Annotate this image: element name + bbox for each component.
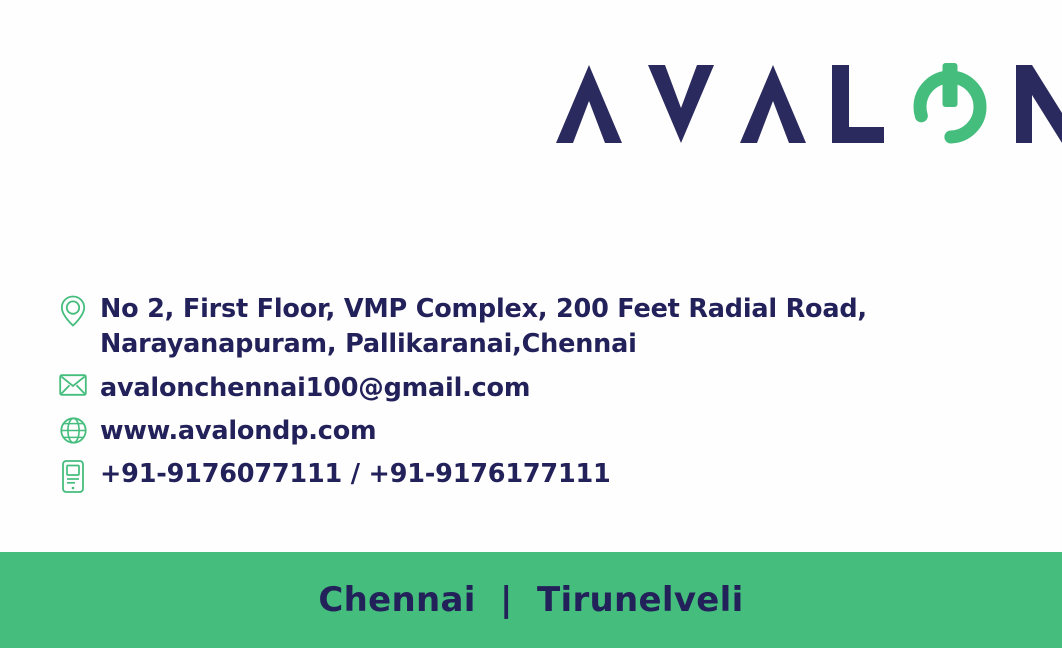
phone-text: +91-9176077111 / +91-9176177111: [90, 457, 611, 492]
contact-row-phone[interactable]: +91-9176077111 / +91-9176177111: [56, 457, 996, 492]
logo-letter-n: [1016, 65, 1062, 143]
contact-row-website[interactable]: www.avalondp.com: [56, 414, 996, 449]
contact-row-email[interactable]: avalonchennai100@gmail.com: [56, 371, 996, 406]
footer-locations-bar: Chennai | Tirunelveli: [0, 552, 1062, 648]
envelope-icon: [56, 371, 90, 405]
globe-icon: [56, 414, 90, 448]
company-logo: [556, 52, 996, 156]
logo-letter-l: [832, 65, 884, 143]
logo-lettermark: [556, 61, 1062, 147]
location-pin-icon: [56, 292, 90, 326]
mobile-phone-icon: [56, 457, 90, 491]
address-text: No 2, First Floor, VMP Complex, 200 Feet…: [90, 292, 867, 361]
footer-locations-text: Chennai | Tirunelveli: [318, 580, 743, 620]
logo-letter-v: [648, 65, 714, 143]
power-button-icon: [910, 61, 990, 147]
logo-letter-a-2: [740, 65, 806, 143]
contact-row-address: No 2, First Floor, VMP Complex, 200 Feet…: [56, 292, 996, 361]
website-text: www.avalondp.com: [90, 414, 376, 449]
logo-letter-a-1: [556, 65, 622, 143]
contact-details: No 2, First Floor, VMP Complex, 200 Feet…: [56, 292, 996, 491]
email-text: avalonchennai100@gmail.com: [90, 371, 530, 406]
business-card: No 2, First Floor, VMP Complex, 200 Feet…: [0, 0, 1062, 648]
